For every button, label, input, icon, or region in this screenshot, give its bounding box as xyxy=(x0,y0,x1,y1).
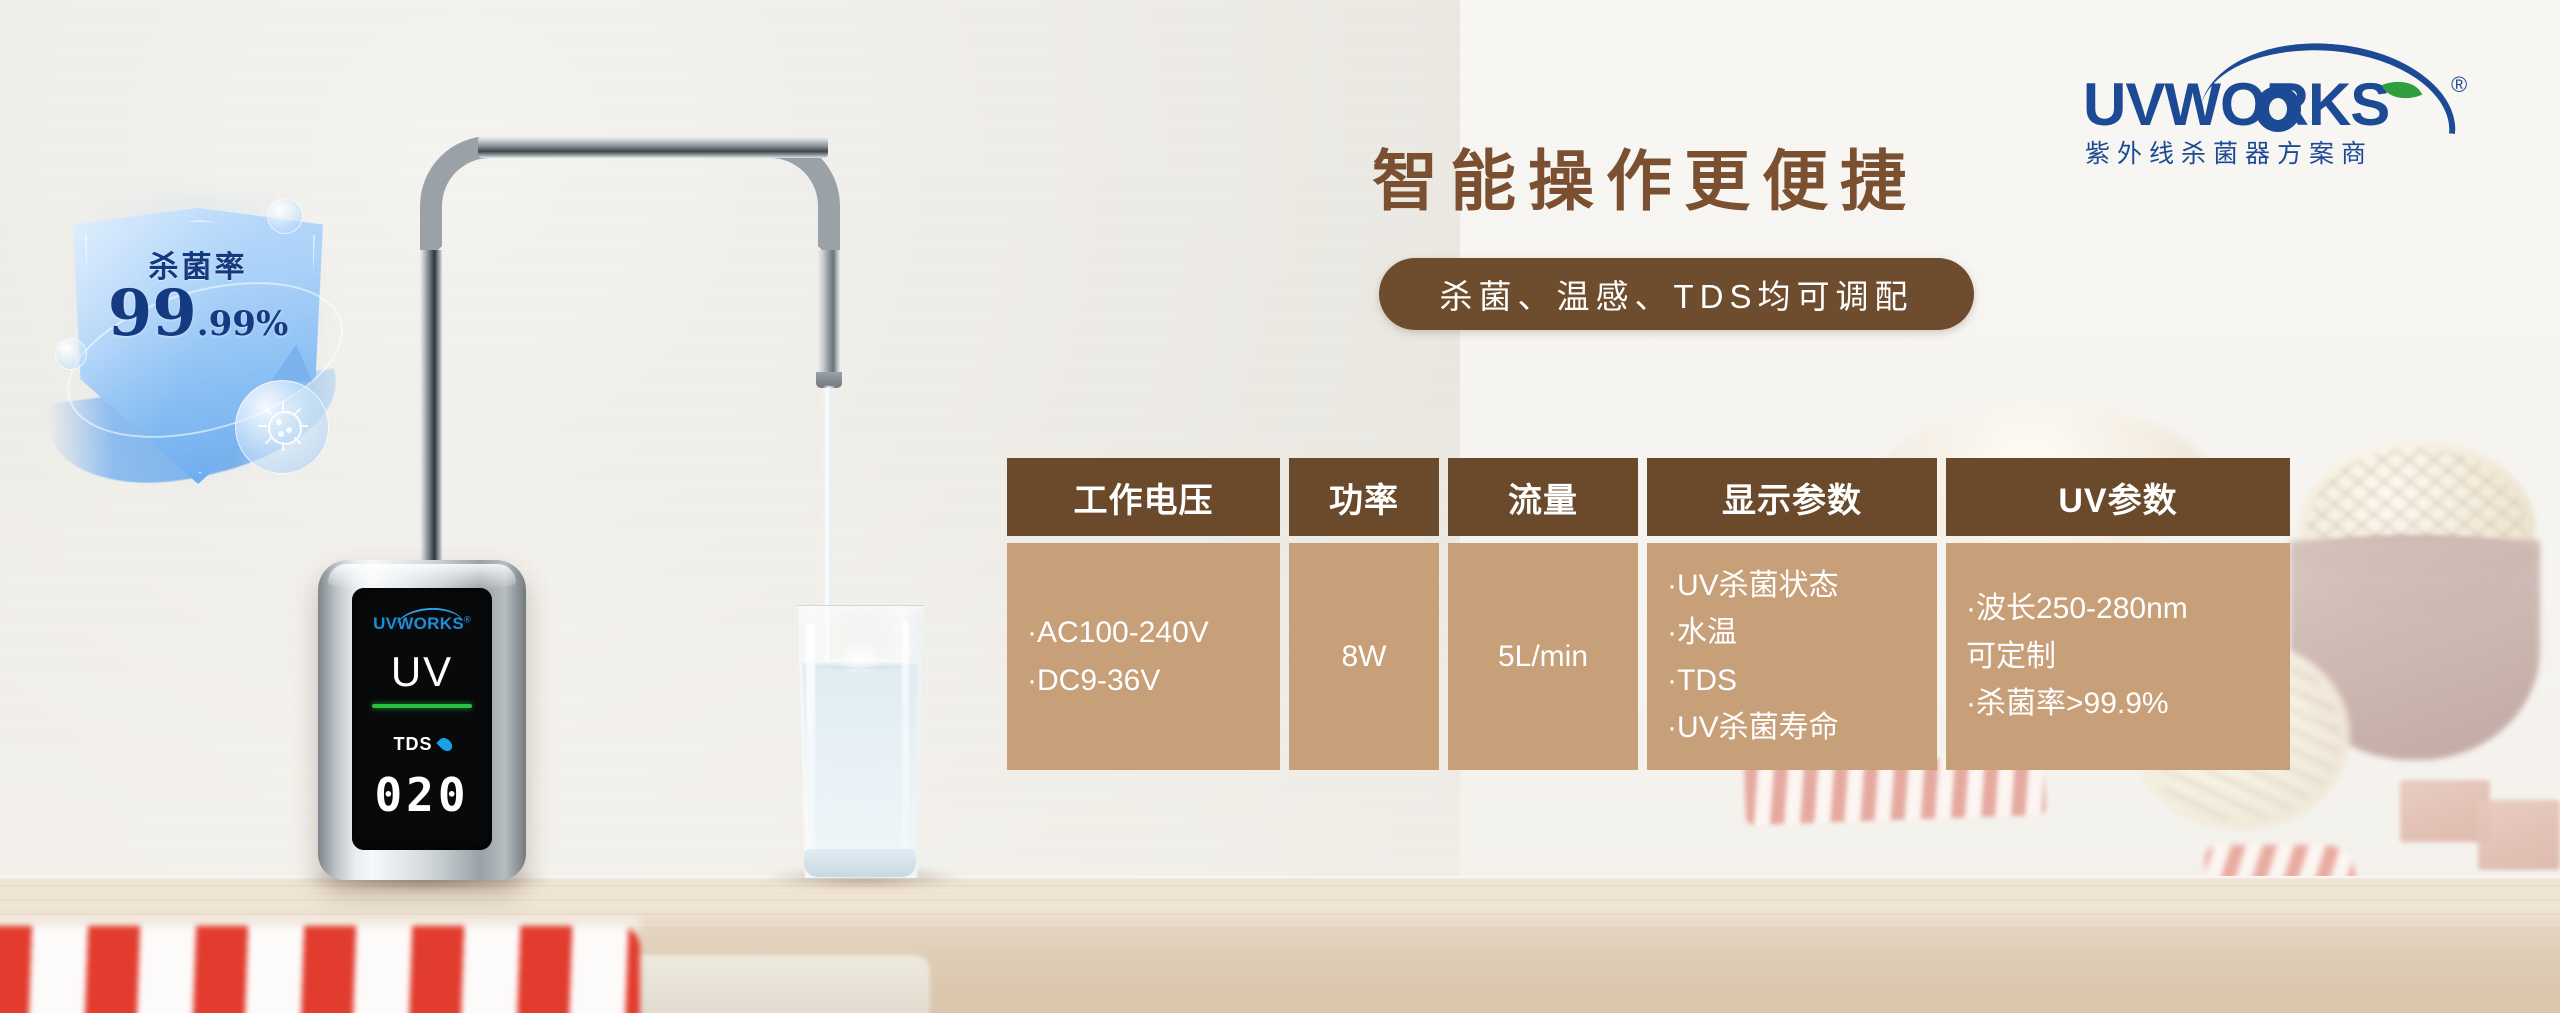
spec-header: 流量 xyxy=(1448,458,1638,536)
spec-header: UV参数 xyxy=(1946,458,2290,536)
germ-spike-7 xyxy=(258,425,267,427)
germ-bubble xyxy=(235,380,329,474)
germ-spike-6 xyxy=(265,437,272,444)
spec-column-uv-params: UV参数 ·波长250-280nm 可定制 ·杀菌率>99.9% xyxy=(1946,458,2290,770)
spec-body: 5L/min xyxy=(1448,543,1638,770)
device-logo-text: UVWORKS xyxy=(373,614,464,633)
spec-column-display-params: 显示参数 ·UV杀菌状态 ·水温 ·TDS ·UV杀菌寿命 xyxy=(1647,458,1937,770)
device-top-highlight xyxy=(328,564,516,590)
spec-table: 工作电压 ·AC100-240V ·DC9-36V 功率 8W 流量 5L/mi… xyxy=(1007,458,2298,770)
device-tds-value: 020 xyxy=(352,768,492,822)
spec-column-working-voltage: 工作电压 ·AC100-240V ·DC9-36V xyxy=(1007,458,1280,770)
prop-block-1 xyxy=(2400,780,2490,842)
spec-body: ·波长250-280nm 可定制 ·杀菌率>99.9% xyxy=(1946,543,2290,770)
glass-base xyxy=(804,849,916,877)
device-tds-label: TDS xyxy=(394,734,433,754)
germ-dot-2 xyxy=(286,427,292,433)
spec-line: ·杀菌率>99.9% xyxy=(1966,680,2169,727)
spec-line: ·波长250-280nm xyxy=(1966,585,2188,632)
germ-spike-3 xyxy=(299,425,308,427)
germ-spike-1 xyxy=(282,401,284,410)
germ-spike-2 xyxy=(294,408,301,415)
germ-icon xyxy=(260,403,306,449)
spec-body: ·UV杀菌状态 ·水温 ·TDS ·UV杀菌寿命 xyxy=(1647,543,1937,770)
striped-towel xyxy=(0,926,640,1013)
sterilization-rate-badge: 杀菌率 99.99% xyxy=(45,190,355,520)
device-logo: UVWORKS® xyxy=(352,614,492,634)
water-splash xyxy=(836,641,884,675)
water-droplet-icon xyxy=(436,735,454,753)
spec-line: ·UV杀菌状态 xyxy=(1667,562,1839,609)
badge-value-minor: .99% xyxy=(197,304,288,344)
brand-logo: UVWORKS ® 紫外线杀菌器方案商 xyxy=(2083,38,2483,158)
glass-highlight-left xyxy=(806,623,815,858)
device-tds-row: TDS xyxy=(352,734,492,755)
germ-spike-8 xyxy=(265,408,272,415)
subtitle-pill-label: 杀菌、温感、TDS均可调配 xyxy=(1440,270,1914,318)
bubble-icon-2 xyxy=(55,338,87,370)
registered-trademark-icon: ® xyxy=(2451,72,2467,98)
germ-dot-3 xyxy=(278,431,284,437)
spec-header: 显示参数 xyxy=(1647,458,1937,536)
spec-line: ·AC100-240V xyxy=(1027,609,1209,656)
device-status-bar xyxy=(372,704,472,708)
brand-tagline: 紫外线杀菌器方案商 xyxy=(2085,134,2485,170)
spec-line: ·TDS xyxy=(1667,657,1737,704)
spec-column-power: 功率 8W xyxy=(1289,458,1439,770)
badge-value: 99.99% xyxy=(73,282,323,346)
product-banner: UVWORKS® UV TDS 020 杀菌率 99.99% xyxy=(0,0,2560,1013)
spec-line: 5L/min xyxy=(1498,633,1588,680)
faucet-top-bar xyxy=(478,136,828,158)
uv-sterilizer-device: UVWORKS® UV TDS 020 xyxy=(318,560,526,880)
spec-line: ·水温 xyxy=(1667,609,1737,656)
prop-block-2 xyxy=(2478,800,2560,870)
spec-line: ·UV杀菌寿命 xyxy=(1667,704,1839,751)
glass-highlight-right xyxy=(902,621,909,859)
spec-line: ·DC9-36V xyxy=(1027,657,1160,704)
spec-header: 功率 xyxy=(1289,458,1439,536)
spec-column-flow-rate: 流量 5L/min xyxy=(1448,458,1638,770)
spec-header: 工作电压 xyxy=(1007,458,1280,536)
spec-line: 8W xyxy=(1342,633,1387,680)
faucet-spout-pipe xyxy=(818,250,840,380)
spec-body: ·AC100-240V ·DC9-36V xyxy=(1007,543,1280,770)
chrome-faucet xyxy=(420,60,840,620)
device-mode-label: UV xyxy=(352,648,492,696)
spec-body: 8W xyxy=(1289,543,1439,770)
germ-dot-1 xyxy=(276,419,282,425)
device-logo-registered-icon: ® xyxy=(464,614,471,624)
water-glass xyxy=(790,605,930,880)
sunburst-center xyxy=(2269,98,2287,120)
subtitle-pill: 杀菌、温感、TDS均可调配 xyxy=(1379,258,1974,330)
badge-value-major: 99 xyxy=(108,276,197,351)
germ-spike-5 xyxy=(282,442,284,451)
white-plate xyxy=(600,955,930,1013)
page-title: 智能操作更便捷 xyxy=(1372,128,1918,224)
spec-line: 可定制 xyxy=(1966,633,2056,680)
device-display-screen[interactable]: UVWORKS® UV TDS 020 xyxy=(352,588,492,850)
bubble-icon-1 xyxy=(267,198,303,234)
